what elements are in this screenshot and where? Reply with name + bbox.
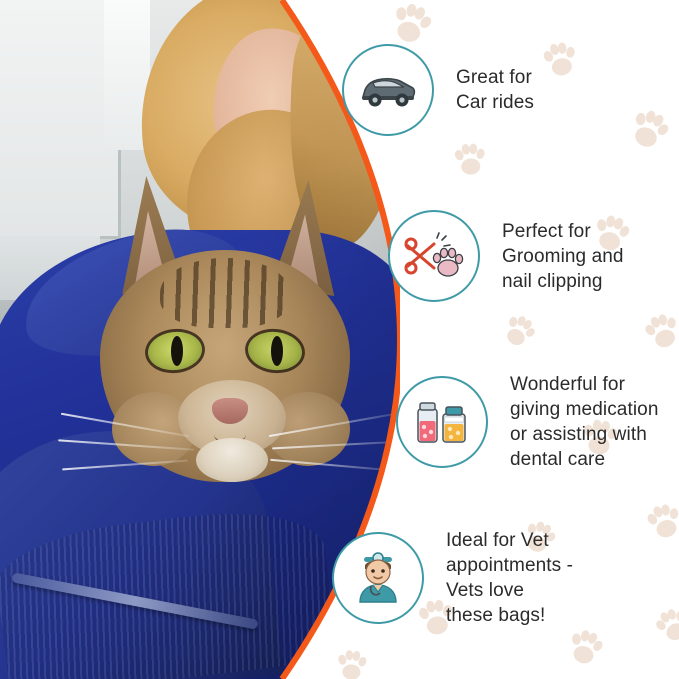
grooming-icon-circle bbox=[388, 210, 480, 302]
car-icon bbox=[359, 70, 417, 110]
feature-car-rides: Great for Car rides bbox=[342, 44, 534, 136]
vet-icon-circle bbox=[332, 532, 424, 624]
medicine-icon-circle bbox=[396, 376, 488, 468]
car-icon-circle bbox=[342, 44, 434, 136]
feature-grooming: Perfect for Grooming and nail clipping bbox=[388, 210, 624, 302]
product-feature-image: Great for Car rides bbox=[0, 0, 679, 679]
feature-medication-label: Wonderful for giving medication or assis… bbox=[510, 372, 659, 472]
veterinarian-icon bbox=[350, 550, 406, 606]
feature-car-rides-label: Great for Car rides bbox=[456, 65, 534, 115]
feature-grooming-label: Perfect for Grooming and nail clipping bbox=[502, 219, 624, 294]
medicine-bottles-icon bbox=[413, 397, 471, 447]
feature-medication: Wonderful for giving medication or assis… bbox=[396, 372, 659, 472]
grooming-scissors-paw-icon bbox=[404, 230, 464, 282]
feature-vet: Ideal for Vet appointments - Vets love t… bbox=[332, 528, 573, 628]
feature-vet-label: Ideal for Vet appointments - Vets love t… bbox=[446, 528, 573, 628]
